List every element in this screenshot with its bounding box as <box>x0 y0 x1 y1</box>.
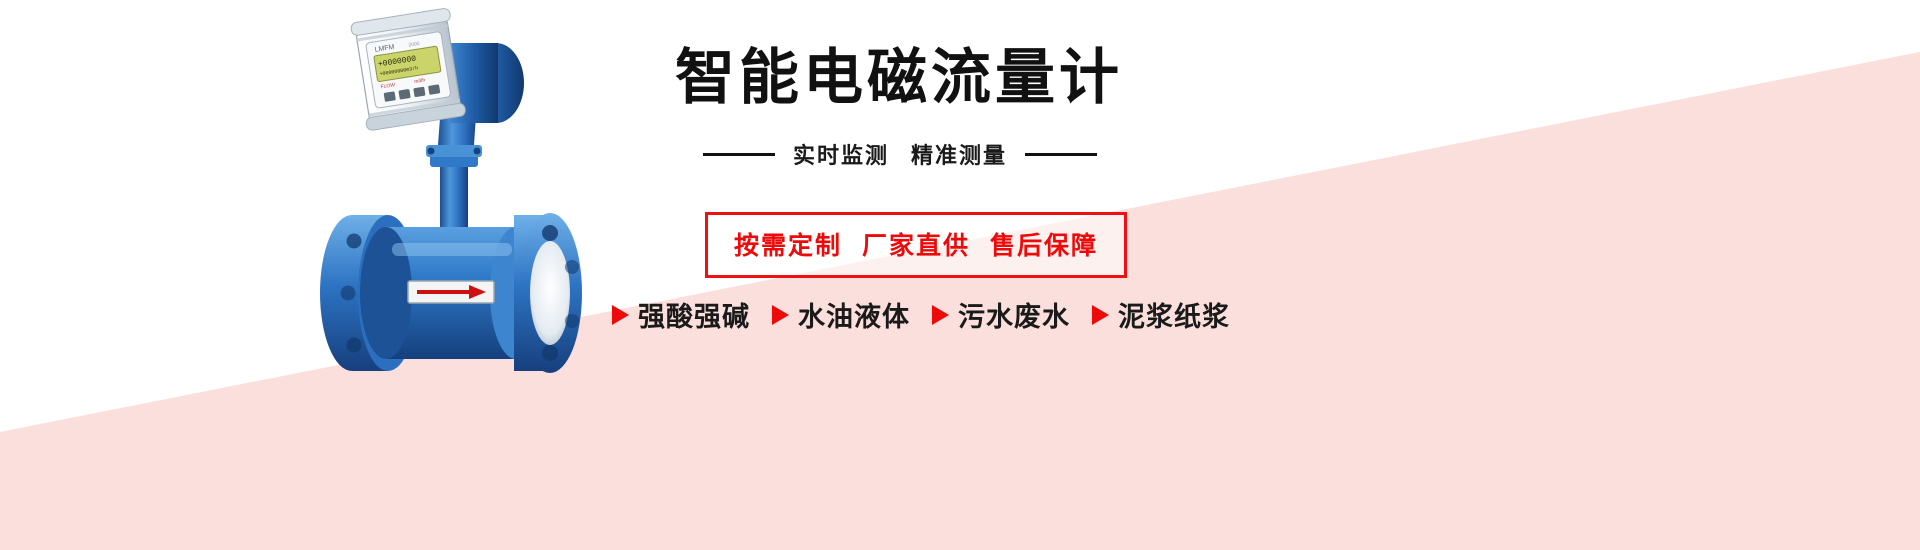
list-item: 污水废水 <box>932 295 1070 334</box>
feature-list: 强酸强碱 水油液体 污水废水 泥浆纸浆 <box>612 295 1230 334</box>
list-item: 泥浆纸浆 <box>1092 295 1230 334</box>
list-item: 强酸强碱 <box>612 295 750 334</box>
badge-item-3: 售后保障 <box>990 232 1098 260</box>
feature-label: 强酸强碱 <box>638 295 750 334</box>
subtitle-left: 实时监测 <box>793 143 889 168</box>
copy-block: 智能电磁流量计 实时监测精准测量 按需定制厂家直供售后保障 强酸强碱 水油液体 <box>600 0 1300 550</box>
subtitle-row: 实时监测精准测量 <box>703 138 1097 170</box>
arrow-right-icon <box>1092 305 1109 325</box>
list-item: 水油液体 <box>772 295 910 334</box>
status-badge: 按需定制厂家直供售后保障 <box>705 212 1127 278</box>
arrow-right-icon <box>772 305 789 325</box>
feature-label: 水油液体 <box>798 295 910 334</box>
subtitle-rule-right <box>1025 153 1097 156</box>
product-banner: LMFM 2000 +0000000 +00000000m3/h FLOW m3… <box>0 0 1920 550</box>
feature-label: 泥浆纸浆 <box>1118 295 1230 334</box>
page-title: 智能电磁流量计 <box>675 48 1123 108</box>
badge-text: 按需定制厂家直供售后保障 <box>734 226 1098 262</box>
arrow-right-icon <box>932 305 949 325</box>
feature-label: 污水废水 <box>958 295 1070 334</box>
badge-item-1: 按需定制 <box>734 232 842 260</box>
subtitle-text: 实时监测精准测量 <box>793 138 1007 170</box>
converter-housing: LMFM 2000 +0000000 +00000000m3/h FLOW m3… <box>350 8 466 131</box>
badge-item-2: 厂家直供 <box>862 232 970 260</box>
subtitle-rule-left <box>703 153 775 156</box>
subtitle-right: 精准测量 <box>911 143 1007 168</box>
arrow-right-icon <box>612 305 629 325</box>
